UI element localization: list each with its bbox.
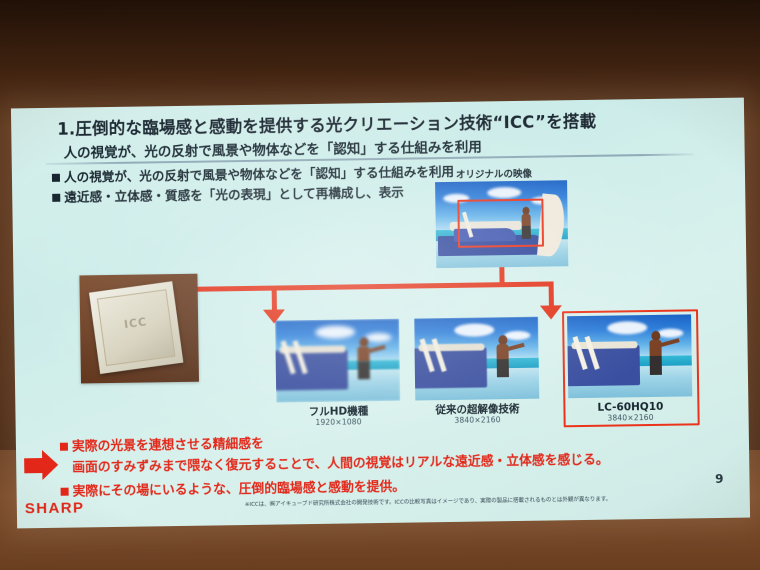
caption-3-resolution: 3840×2160 — [569, 412, 693, 423]
arrow-tip — [42, 450, 58, 480]
original-video-label: オリジナルの映像 — [456, 166, 532, 181]
person-legs — [650, 356, 662, 375]
caption-2-resolution: 3840×2160 — [416, 415, 540, 426]
bullet-text-2: 遠近感・立体感・質感を「光の表現」として再構成し、表示 — [64, 185, 404, 205]
projected-slide: 1.圧倒的な臨場感と感動を提供する光クリエーション技術“ICC”を搭載 人の視覚… — [11, 98, 750, 529]
conclusion-line-3: 実際にその場にいるような、圧倒的臨場感と感動を提供。 — [61, 482, 406, 500]
arrow-shaft — [24, 458, 43, 473]
bullet-square-icon — [52, 193, 60, 201]
conclusion-text-3: 実際にその場にいるような、圧倒的臨場感と感動を提供。 — [73, 480, 406, 500]
slide-title: 1.圧倒的な臨場感と感動を提供する光クリエーション技術“ICC”を搭載 — [57, 108, 596, 140]
bullet-square-icon — [61, 487, 69, 495]
caption-3: LC-60HQ10 3840×2160 — [568, 400, 692, 423]
arrow-drop-right — [549, 281, 554, 307]
page-number: 9 — [715, 472, 724, 486]
comparison-thumbnail-3 — [567, 314, 692, 398]
conclusion-text-1: 実際の光景を連想させる精細感を — [72, 437, 264, 455]
conclusion-line-2: 画面のすみずみまで隈なく復元することで、人間の視覚はリアルな遠近感・立体感を感じ… — [72, 455, 609, 476]
footnote-disclaimer: ※ICCは、㈱アイキューブド研究所株式会社の開発技術です。ICCの比較写真はイメ… — [245, 495, 706, 509]
arrowhead-right — [540, 305, 562, 319]
bullet-item-1: 人の視覚が、光の反射で風景や物体などを「認知」する仕組みを利用 — [52, 166, 454, 185]
icc-chip-photo: ICC — [79, 274, 199, 384]
boat-cabin — [454, 228, 516, 242]
slide-canvas: 1.圧倒的な臨場感と感動を提供する光クリエーション技術“ICC”を搭載 人の視覚… — [11, 98, 750, 529]
bullet-text-1: 人の視覚が、光の反射で風景や物体などを「認知」する仕組みを利用 — [64, 164, 454, 185]
comparison-thumbnail-1 — [275, 319, 400, 403]
chip-package: ICC — [89, 281, 183, 374]
original-video-thumbnail — [435, 180, 568, 268]
bullet-square-icon — [60, 442, 68, 450]
person-legs — [358, 361, 370, 379]
conclusion-line-1: 実際の光景を連想させる精細感を — [60, 439, 264, 455]
conclusion-arrow-icon — [24, 450, 58, 481]
bullet-square-icon — [52, 173, 60, 181]
comparison-thumbnail-2 — [414, 317, 539, 401]
arrow-drop-center — [272, 286, 277, 312]
caption-2: 従来の超解像技術 3840×2160 — [415, 403, 539, 426]
caption-1: フルHD機種 1920×1080 — [276, 405, 400, 428]
conclusion-text-2: 画面のすみずみまで隈なく復元することで、人間の視覚はリアルな遠近感・立体感を感じ… — [72, 453, 609, 476]
person-legs — [522, 226, 531, 239]
bullet-item-2: 遠近感・立体感・質感を「光の表現」として再構成し、表示 — [52, 187, 404, 205]
sharp-logo: SHARP — [25, 499, 85, 517]
caption-1-resolution: 1920×1080 — [277, 417, 401, 428]
person-legs — [497, 359, 509, 377]
